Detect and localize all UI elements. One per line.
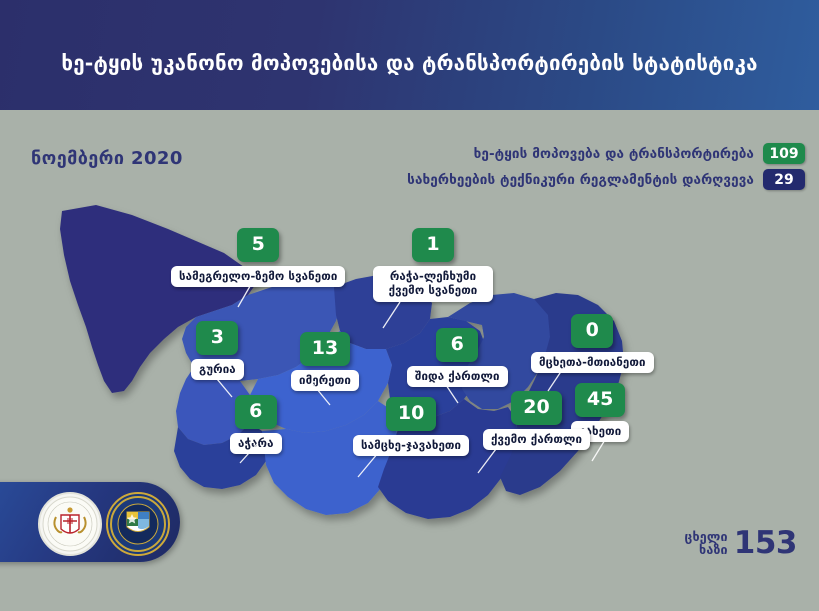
environmental-supervision-seal-icon [106,492,170,556]
region-label-samtskhe: სამცხე-ჯავახეთი [353,435,469,456]
region-label-adjara: აჭარა [230,433,282,454]
report-month: ნოემბერი 2020 [31,148,183,169]
legend-row-sawmill: სახერხეების ტექნიკური რეგლამენტის დარღვე… [407,169,805,190]
marker-kvemokartli: 20 ქვემო ქართლი [483,391,590,450]
marker-mtskheta: 0 მცხეთა-მთიანეთი [531,314,654,373]
region-label-imereti: იმერეთი [291,370,359,391]
marker-adjara: 6 აჭარა [230,395,282,454]
marker-samtskhe: 10 სამცხე-ჯავახეთი [353,397,469,456]
region-label-shidakartli: შიდა ქართლი [407,366,508,387]
marker-guria: 3 გურია [191,321,244,380]
legend-value-logging: 109 [763,143,805,164]
legend-value-sawmill: 29 [763,169,805,190]
logo-panel [0,482,180,562]
legend-label-logging: ხე-ტყის მოპოვება და ტრანსპორტირება [474,146,754,162]
hotline-label: ცხელი ხაზი [684,531,727,557]
legend-label-sawmill: სახერხეების ტექნიკური რეგლამენტის დარღვე… [407,172,754,188]
region-label-mtskheta: მცხეთა-მთიანეთი [531,352,654,373]
page-title: ხე-ტყის უკანონო მოპოვებისა და ტრანსპორტი… [0,0,819,110]
value-badge-guria: 3 [196,321,238,355]
hotline: ცხელი ხაზი 153 [684,528,797,559]
value-badge-shidakartli: 6 [436,328,478,362]
value-badge-mtskheta: 0 [571,314,613,348]
marker-racha: 1 რაჭა-ლეჩხუმი ქვემო სვანეთი [373,228,493,302]
value-badge-samegrelo: 5 [237,228,279,262]
ministry-coat-of-arms-icon [38,492,102,556]
region-label-kvemokartli: ქვემო ქართლი [483,429,590,450]
marker-shidakartli: 6 შიდა ქართლი [407,328,508,387]
legend: ხე-ტყის მოპოვება და ტრანსპორტირება 109 ს… [407,143,805,190]
value-badge-adjara: 6 [235,395,277,429]
value-badge-imereti: 13 [300,332,350,366]
marker-imereti: 13 იმერეთი [291,332,359,391]
region-label-racha: რაჭა-ლეჩხუმი ქვემო სვანეთი [373,266,493,302]
region-label-guria: გურია [191,359,244,380]
value-badge-samtskhe: 10 [386,397,436,431]
hotline-label-line2: ხაზი [684,544,727,557]
hotline-number: 153 [734,528,797,559]
value-badge-kvemokartli: 20 [511,391,561,425]
region-label-samegrelo: სამეგრელო-ზემო სვანეთი [171,266,345,287]
marker-samegrelo: 5 სამეგრელო-ზემო სვანეთი [171,228,345,287]
value-badge-racha: 1 [412,228,454,262]
header-banner: ხე-ტყის უკანონო მოპოვებისა და ტრანსპორტი… [0,0,819,110]
legend-row-logging: ხე-ტყის მოპოვება და ტრანსპორტირება 109 [474,143,805,164]
